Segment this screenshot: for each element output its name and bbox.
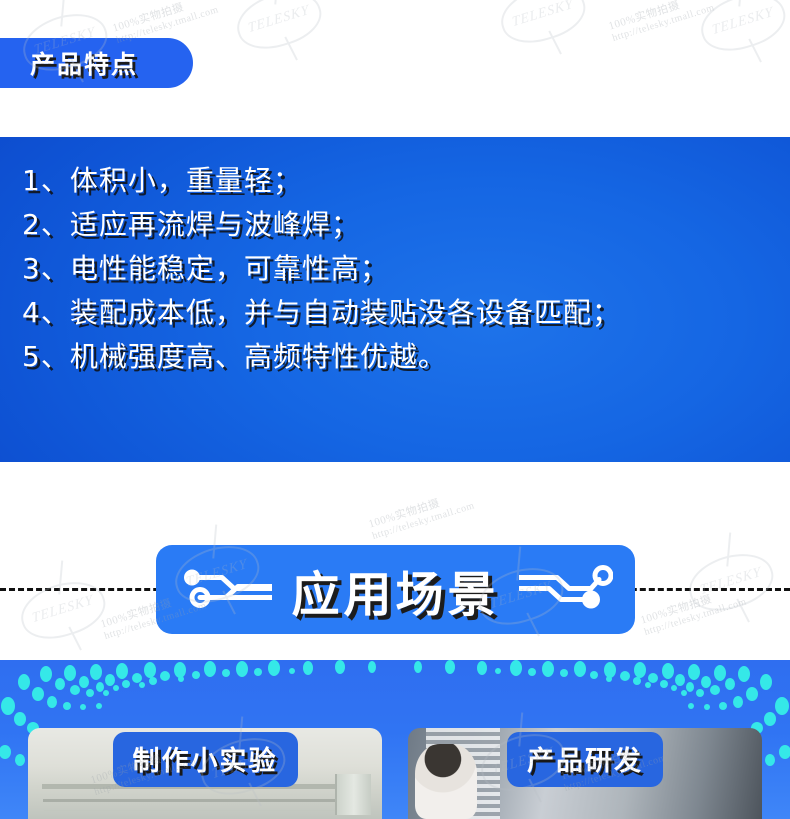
feature-list-panel: 1、体积小，重量轻； 2、适应再流焊与波峰焊； 3、电性能稳定，可靠性高； 4、… <box>0 137 790 462</box>
scene-card-label: 制作小实验 <box>113 732 298 787</box>
scene-heading-badge: 应用场景 <box>156 545 635 634</box>
scene-card-experiment[interactable]: 制作小实验 <box>28 728 382 819</box>
product-detail-page: 产品特点 1、体积小，重量轻； 2、适应再流焊与波峰焊； 3、电性能稳定，可靠性… <box>0 0 790 819</box>
watermark-logo: TELESKY <box>694 0 790 59</box>
section-title-text: 产品特点 <box>30 45 138 81</box>
feature-list-item: 2、适应再流焊与波峰焊； <box>22 203 780 247</box>
circuit-trace-left-icon <box>178 564 272 615</box>
feature-list-item: 3、电性能稳定，可靠性高； <box>22 247 780 291</box>
section-title-badge-product-features: 产品特点 <box>0 38 193 88</box>
feature-list: 1、体积小，重量轻； 2、适应再流焊与波峰焊； 3、电性能稳定，可靠性高； 4、… <box>22 159 780 379</box>
watermark-text: 100%实物拍摄 http://telesky.tmall.com <box>606 0 716 44</box>
scene-heading-text: 应用场景 <box>291 555 499 625</box>
watermark-logo: TELESKY <box>230 0 327 57</box>
application-scene-band: 制作小实验 产品研发 <box>0 660 790 819</box>
watermark-logo: TELESKY <box>494 0 591 51</box>
scene-card-row: 制作小实验 产品研发 <box>0 728 790 819</box>
feature-list-item: 5、机械强度高、高频特性优越。 <box>22 335 780 379</box>
feature-list-item: 4、装配成本低，并与自动装贴没各设备匹配； <box>22 291 780 335</box>
feature-list-item: 1、体积小，重量轻； <box>22 159 780 203</box>
circuit-trace-right-icon <box>519 564 613 615</box>
scene-card-label: 产品研发 <box>507 732 663 787</box>
scene-card-rnd[interactable]: 产品研发 <box>408 728 762 819</box>
